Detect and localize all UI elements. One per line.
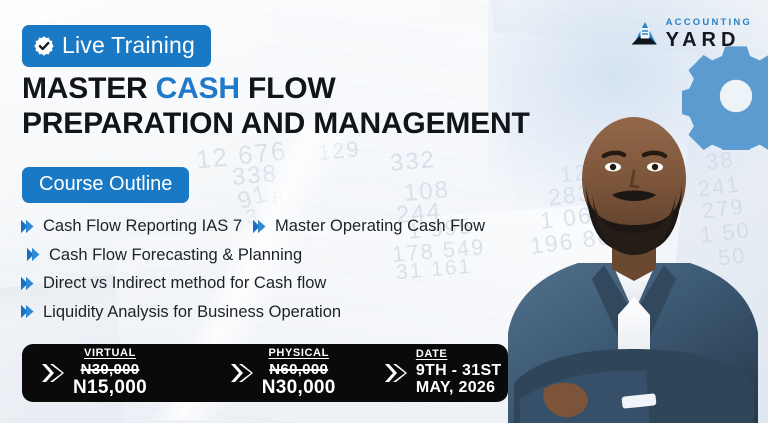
chevron-right-icon bbox=[229, 362, 255, 384]
headline-line-2: PREPARATION AND MANAGEMENT bbox=[22, 107, 530, 142]
pricing-bar: VIRTUAL N30,000 N15,000 PHYSICAL N60,000… bbox=[22, 344, 508, 402]
course-outline-label: Course Outline bbox=[39, 173, 172, 196]
list-item: Cash Flow Reporting IAS 7 bbox=[20, 212, 242, 241]
outline-row: Cash Flow Forecasting & Planning bbox=[20, 241, 550, 270]
pricing-virtual-old-price: N30,000 bbox=[81, 362, 140, 378]
list-item: Direct vs Indirect method for Cash flow bbox=[20, 269, 326, 298]
pricing-physical-old-price: N60,000 bbox=[269, 362, 328, 378]
list-item-label: Liquidity Analysis for Business Operatio… bbox=[43, 304, 341, 321]
live-training-badge[interactable]: Live Training bbox=[22, 25, 211, 67]
live-training-label: Live Training bbox=[62, 32, 195, 59]
headline-line-1: MASTER CASH FLOW bbox=[22, 72, 530, 107]
list-item: Liquidity Analysis for Business Operatio… bbox=[20, 298, 341, 327]
list-item-label: Direct vs Indirect method for Cash flow bbox=[43, 275, 326, 292]
verified-check-icon bbox=[33, 35, 55, 57]
pricing-physical: PHYSICAL N60,000 N30,000 bbox=[229, 348, 383, 398]
pricing-virtual-new-price: N15,000 bbox=[73, 378, 147, 398]
list-item: Master Operating Cash Flow bbox=[252, 212, 485, 241]
triangle-mountain-logo-icon bbox=[630, 19, 660, 49]
date-line-1: 9TH - 31ST bbox=[416, 363, 502, 380]
pricing-date: DATE 9TH - 31ST MAY, 2026 bbox=[383, 349, 508, 397]
list-item: Cash Flow Forecasting & Planning bbox=[20, 241, 302, 270]
outline-row: Liquidity Analysis for Business Operatio… bbox=[20, 298, 550, 327]
pricing-virtual: VIRTUAL N30,000 N15,000 bbox=[22, 348, 229, 398]
chevron-right-icon bbox=[383, 362, 409, 384]
chevron-right-icon bbox=[252, 219, 269, 234]
course-outline-badge[interactable]: Course Outline bbox=[22, 167, 189, 203]
pricing-physical-new-price: N30,000 bbox=[262, 378, 336, 398]
date-heading: DATE bbox=[416, 349, 448, 361]
chevron-right-icon bbox=[20, 276, 37, 291]
logo-top-text: ACCOUNTING bbox=[666, 18, 752, 28]
logo-bottom-text: YARD bbox=[666, 30, 752, 50]
list-item-label: Master Operating Cash Flow bbox=[275, 218, 485, 235]
promo-banner: 12 676 338 129 332 6 108 244 91 1 995 17… bbox=[0, 0, 768, 423]
pricing-virtual-heading: VIRTUAL bbox=[84, 348, 136, 360]
list-item-label: Cash Flow Reporting IAS 7 bbox=[43, 218, 242, 235]
headline-line1-pre: MASTER bbox=[22, 72, 156, 105]
pricing-physical-heading: PHYSICAL bbox=[268, 348, 328, 360]
page-title: MASTER CASH FLOW PREPARATION AND MANAGEM… bbox=[22, 72, 530, 142]
chevron-right-icon bbox=[40, 362, 66, 384]
chevron-right-icon bbox=[20, 304, 37, 319]
outline-row: Direct vs Indirect method for Cash flow bbox=[20, 269, 550, 298]
course-outline-list: Cash Flow Reporting IAS 7 Master Operati… bbox=[20, 212, 550, 326]
list-item-label: Cash Flow Forecasting & Planning bbox=[49, 247, 302, 264]
brand-logo: ACCOUNTING YARD bbox=[630, 18, 752, 50]
headline-line1-post: FLOW bbox=[240, 72, 336, 105]
chevron-right-icon bbox=[20, 219, 37, 234]
headline-accent-word: CASH bbox=[156, 72, 240, 105]
date-line-2: MAY, 2026 bbox=[416, 380, 502, 397]
chevron-right-icon bbox=[26, 247, 43, 262]
outline-row: Cash Flow Reporting IAS 7 Master Operati… bbox=[20, 212, 550, 241]
